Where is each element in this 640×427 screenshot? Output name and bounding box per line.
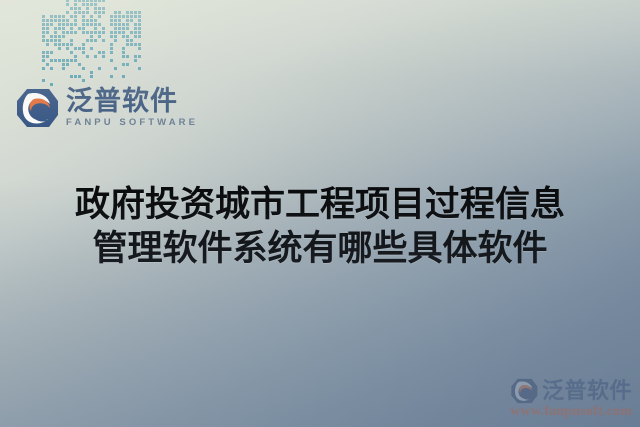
brand-wordmark: 泛普软件 FANPU SOFTWARE <box>66 88 198 128</box>
skyline-pixel <box>118 15 121 18</box>
skyline-pixel <box>130 31 133 34</box>
skyline-pixel <box>66 55 69 58</box>
skyline-pixel <box>42 27 45 30</box>
skyline-pixel <box>98 3 101 6</box>
skyline-pixel <box>54 63 57 66</box>
skyline-pixel <box>70 19 73 22</box>
skyline-pixel <box>126 59 129 62</box>
skyline-pixel <box>118 75 121 78</box>
skyline-pixel <box>134 75 137 78</box>
skyline-pixel <box>50 31 53 34</box>
skyline-pixel <box>122 23 125 26</box>
skyline-pixel <box>82 63 85 66</box>
skyline-pixel <box>122 79 125 82</box>
skyline-pixel <box>74 79 77 82</box>
skyline-pixel <box>110 39 113 42</box>
skyline-pixel <box>94 51 97 54</box>
skyline-pixel <box>130 67 133 70</box>
skyline-pixel <box>70 39 73 42</box>
skyline-pixel <box>78 43 81 46</box>
skyline-pixel <box>74 11 77 14</box>
skyline-pixel <box>86 39 89 42</box>
skyline-pixel <box>78 23 81 26</box>
skyline-pixel <box>94 19 97 22</box>
skyline-pixel <box>130 23 133 26</box>
skyline-pixel <box>46 27 49 30</box>
skyline-pixel <box>58 35 61 38</box>
skyline-pixel <box>94 15 97 18</box>
skyline-pixel <box>42 79 45 82</box>
skyline-pixel <box>74 63 77 66</box>
skyline-pixel <box>42 75 45 78</box>
skyline-pixel <box>134 59 137 62</box>
skyline-pixel <box>126 71 129 74</box>
skyline-pixel <box>110 63 113 66</box>
skyline-pixel <box>82 55 85 58</box>
skyline-pixel <box>50 63 53 66</box>
skyline-pixel <box>126 35 129 38</box>
skyline-pixel <box>66 75 69 78</box>
skyline-pixel <box>130 79 133 82</box>
skyline-pixel <box>122 71 125 74</box>
skyline-pixel <box>82 7 85 10</box>
skyline-pixel <box>90 15 93 18</box>
skyline-pixel <box>126 75 129 78</box>
skyline-pixel <box>86 19 89 22</box>
skyline-pixel <box>78 0 81 2</box>
skyline-pixel <box>94 79 97 82</box>
skyline-pixel <box>134 19 137 22</box>
skyline-pixel <box>118 39 121 42</box>
skyline-pixel <box>82 3 85 6</box>
skyline-pixel <box>62 19 65 22</box>
skyline-pixel <box>126 51 129 54</box>
skyline-pixel <box>94 75 97 78</box>
skyline-pixel <box>58 75 61 78</box>
skyline-right-building <box>110 11 141 86</box>
skyline-pixel <box>126 31 129 34</box>
skyline-pixel <box>50 15 53 18</box>
skyline-pixel <box>118 47 121 50</box>
skyline-pixel <box>58 31 61 34</box>
skyline-pixel <box>90 51 93 54</box>
skyline-pixel <box>54 19 57 22</box>
skyline-pixel <box>46 19 49 22</box>
skyline-pixel <box>78 51 81 54</box>
skyline-pixel <box>50 75 53 78</box>
skyline-pixel <box>134 47 137 50</box>
skyline-pixel <box>126 55 129 58</box>
skyline-pixel <box>98 35 101 38</box>
skyline-pixel <box>86 79 89 82</box>
skyline-pixel <box>102 47 105 50</box>
skyline-pixel <box>70 79 73 82</box>
skyline-pixel <box>70 55 73 58</box>
skyline-pixel <box>42 51 45 54</box>
skyline-pixel <box>130 27 133 30</box>
skyline-pixel <box>126 19 129 22</box>
skyline-pixel <box>62 27 65 30</box>
skyline-pixel <box>50 67 53 70</box>
skyline-pixel <box>98 59 101 62</box>
skyline-pixel <box>94 39 97 42</box>
skyline-pixel <box>50 19 53 22</box>
skyline-pixel <box>74 59 77 62</box>
skyline-pixel <box>110 31 113 34</box>
skyline-pixel <box>94 63 97 66</box>
skyline-pixel <box>46 71 49 74</box>
skyline-pixel <box>86 63 89 66</box>
skyline-pixel <box>94 71 97 74</box>
skyline-pixel <box>110 35 113 38</box>
skyline-pixel <box>42 35 45 38</box>
skyline-pixel <box>110 19 113 22</box>
skyline-pixel <box>62 51 65 54</box>
skyline-pixel <box>42 71 45 74</box>
skyline-pixel <box>50 39 53 42</box>
skyline-pixel <box>62 59 65 62</box>
skyline-pixel <box>86 27 89 30</box>
skyline-pixel <box>74 7 77 10</box>
skyline-pixel <box>70 15 73 18</box>
skyline-pixel <box>66 71 69 74</box>
skyline-pixel <box>94 7 97 10</box>
skyline-pixel <box>98 67 101 70</box>
skyline-pixel <box>62 55 65 58</box>
skyline-pixel <box>86 3 89 6</box>
skyline-left-building <box>42 15 65 86</box>
skyline-pixel <box>138 39 141 42</box>
skyline-pixel <box>70 67 73 70</box>
skyline-pixel <box>42 43 45 46</box>
skyline-pixel <box>58 71 61 74</box>
skyline-pixel <box>118 31 121 34</box>
skyline-pixel <box>54 35 57 38</box>
skyline-pixel <box>42 23 45 26</box>
skyline-pixel <box>102 23 105 26</box>
skyline-pixel <box>58 27 61 30</box>
skyline-pixel <box>102 3 105 6</box>
skyline-pixel <box>138 75 141 78</box>
skyline-pixel <box>50 43 53 46</box>
skyline-pixel <box>138 55 141 58</box>
skyline-pixel <box>102 0 105 2</box>
skyline-pixel <box>54 27 57 30</box>
skyline-pixel <box>74 71 77 74</box>
skyline-pixel <box>122 11 125 14</box>
skyline-pixel <box>90 23 93 26</box>
skyline-pixel <box>74 43 77 46</box>
skyline-pixel <box>86 47 89 50</box>
skyline-pixel <box>134 67 137 70</box>
skyline-pixel <box>114 51 117 54</box>
skyline-pixel <box>90 11 93 14</box>
skyline-pixel <box>114 47 117 50</box>
skyline-pixel <box>82 23 85 26</box>
skyline-pixel <box>62 31 65 34</box>
skyline-pixel <box>58 55 61 58</box>
skyline-pixel <box>66 3 69 6</box>
skyline-pixel <box>66 59 69 62</box>
skyline-pixel <box>110 15 113 18</box>
skyline-pixel <box>126 47 129 50</box>
skyline-pixel <box>122 75 125 78</box>
skyline-pixel <box>50 71 53 74</box>
skyline-pixel <box>114 31 117 34</box>
skyline-pixel <box>86 15 89 18</box>
skyline-pixel <box>94 59 97 62</box>
skyline-pixel <box>82 67 85 70</box>
skyline-pixel <box>90 59 93 62</box>
skyline-pixel <box>86 0 89 2</box>
skyline-pixel <box>138 51 141 54</box>
skyline-pixel <box>102 35 105 38</box>
skyline-pixel <box>114 27 117 30</box>
skyline-pixel <box>82 43 85 46</box>
skyline-pixel <box>74 35 77 38</box>
skyline-pixel <box>74 39 77 42</box>
skyline-pixel <box>138 79 141 82</box>
skyline-pixel <box>62 39 65 42</box>
skyline-pixel <box>94 43 97 46</box>
skyline-pixel <box>62 75 65 78</box>
skyline-pixel <box>90 43 93 46</box>
skyline-pixel <box>74 51 77 54</box>
skyline-pixel <box>66 47 69 50</box>
skyline-pixel <box>42 63 45 66</box>
skyline-pixel <box>118 55 121 58</box>
skyline-pixel <box>118 79 121 82</box>
skyline-pixel <box>94 47 97 50</box>
skyline-pixel <box>66 43 69 46</box>
skyline-pixel <box>98 75 101 78</box>
skyline-pixel <box>70 31 73 34</box>
skyline-pixel <box>118 63 121 66</box>
skyline-pixel <box>82 59 85 62</box>
skyline-pixel <box>122 19 125 22</box>
skyline-pixel <box>58 23 61 26</box>
skyline-pixel <box>50 83 53 86</box>
skyline-pixel <box>74 67 77 70</box>
skyline-pixel <box>42 31 45 34</box>
skyline-pixel <box>70 51 73 54</box>
skyline-pixel <box>46 79 49 82</box>
skyline-pixel <box>66 39 69 42</box>
skyline-pixel <box>118 19 121 22</box>
skyline-pixel <box>98 31 101 34</box>
skyline-pixel <box>90 0 93 2</box>
skyline-pixel <box>102 43 105 46</box>
skyline-pixel <box>98 55 101 58</box>
skyline-pixel <box>114 19 117 22</box>
skyline-pixel <box>138 43 141 46</box>
skyline-pixel <box>82 0 85 2</box>
skyline-pixel <box>114 23 117 26</box>
skyline-pixel <box>62 43 65 46</box>
fanpu-logo-icon-watermark <box>510 378 538 404</box>
skyline-pixel <box>90 55 93 58</box>
skyline-pixel <box>114 55 117 58</box>
skyline-pixel <box>98 39 101 42</box>
skyline-pixel <box>78 7 81 10</box>
skyline-pixel <box>114 59 117 62</box>
skyline-pixel <box>82 47 85 50</box>
skyline-pixel <box>62 23 65 26</box>
skyline-pixel <box>82 39 85 42</box>
skyline-pixel <box>70 43 73 46</box>
skyline-pixel <box>114 43 117 46</box>
skyline-pixel <box>46 39 49 42</box>
skyline-pixel <box>98 47 101 50</box>
skyline-pixel <box>50 47 53 50</box>
skyline-pixel <box>54 59 57 62</box>
skyline-pixel <box>82 79 85 82</box>
skyline-pixel <box>74 27 77 30</box>
skyline-pixel <box>98 11 101 14</box>
skyline-pixel <box>138 31 141 34</box>
skyline-pixel <box>122 51 125 54</box>
skyline-pixel <box>130 71 133 74</box>
skyline-pixel <box>102 55 105 58</box>
skyline-pixel <box>66 51 69 54</box>
skyline-pixel <box>54 51 57 54</box>
skyline-pixel <box>110 71 113 74</box>
skyline-pixel <box>90 47 93 50</box>
skyline-pixel <box>118 11 121 14</box>
skyline-pixel <box>86 55 89 58</box>
skyline-pixel <box>70 11 73 14</box>
skyline-pixel <box>138 71 141 74</box>
skyline-pixel <box>122 55 125 58</box>
skyline-pixel <box>94 23 97 26</box>
page-title: 政府投资城市工程项目过程信息 管理软件系统有哪些具体软件 <box>0 183 640 271</box>
skyline-pixel <box>126 43 129 46</box>
skyline-pixel <box>134 39 137 42</box>
skyline-pixel <box>78 27 81 30</box>
skyline-pixel <box>134 43 137 46</box>
skyline-pixel <box>42 67 45 70</box>
skyline-pixel <box>86 23 89 26</box>
skyline-pixel <box>74 19 77 22</box>
skyline-pixel <box>90 35 93 38</box>
skyline-pixel <box>114 35 117 38</box>
skyline-pixel <box>110 79 113 82</box>
skyline-pixel <box>78 15 81 18</box>
skyline-pixel <box>46 35 49 38</box>
skyline-pixel <box>82 31 85 34</box>
skyline-pixel <box>102 51 105 54</box>
skyline-pixel <box>58 79 61 82</box>
skyline-pixel <box>82 19 85 22</box>
skyline-pixel <box>126 23 129 26</box>
skyline-pixel <box>78 47 81 50</box>
skyline-pixel <box>42 39 45 42</box>
skyline-pixel <box>70 27 73 30</box>
skyline-pixel <box>58 51 61 54</box>
skyline-pixel <box>90 27 93 30</box>
skyline-pixel <box>110 11 113 14</box>
skyline-pixel <box>126 63 129 66</box>
skyline-pixel <box>130 75 133 78</box>
skyline-pixel <box>126 39 129 42</box>
skyline-pixel <box>110 51 113 54</box>
skyline-pixel <box>102 11 105 14</box>
page-title-line-1: 政府投资城市工程项目过程信息 <box>0 183 640 227</box>
skyline-pixel <box>78 55 81 58</box>
skyline-pixel <box>50 23 53 26</box>
skyline-pixel <box>70 75 73 78</box>
skyline-pixel <box>122 63 125 66</box>
skyline-center-building <box>66 0 105 86</box>
skyline-pixel <box>98 79 101 82</box>
skyline-pixel <box>46 75 49 78</box>
skyline-pixel <box>110 55 113 58</box>
skyline-pixel <box>86 31 89 34</box>
skyline-pixel <box>90 63 93 66</box>
skyline-pixel <box>102 75 105 78</box>
skyline-pixel <box>134 27 137 30</box>
skyline-pixel <box>78 39 81 42</box>
skyline-pixel <box>78 79 81 82</box>
skyline-pixel <box>50 59 53 62</box>
skyline-pixel <box>110 27 113 30</box>
skyline-pixel <box>74 55 77 58</box>
skyline-pixel <box>102 63 105 66</box>
skyline-pixel <box>138 27 141 30</box>
skyline-pixel <box>114 67 117 70</box>
skyline-pixel <box>54 75 57 78</box>
skyline-pixel <box>94 0 97 2</box>
skyline-pixel <box>126 67 129 70</box>
skyline-pixel <box>98 27 101 30</box>
skyline-pixel <box>66 35 69 38</box>
skyline-pixel <box>130 55 133 58</box>
skyline-pixel <box>122 39 125 42</box>
skyline-pixel <box>78 19 81 22</box>
skyline-pixel <box>114 15 117 18</box>
skyline-pixel <box>110 67 113 70</box>
watermark: 泛普软件 www.fanpusoft.com <box>510 378 632 419</box>
skyline-pixel <box>138 15 141 18</box>
skyline-pixel <box>46 83 49 86</box>
skyline-pixel <box>66 7 69 10</box>
skyline-pixel <box>70 63 73 66</box>
skyline-pixel <box>98 19 101 22</box>
skyline-pixel <box>58 19 61 22</box>
skyline-pixel <box>42 19 45 22</box>
skyline-pixel <box>114 63 117 66</box>
skyline-pixel <box>94 35 97 38</box>
skyline-pixel <box>102 79 105 82</box>
skyline-pixel <box>86 11 89 14</box>
skyline-pixel <box>102 19 105 22</box>
skyline-pixel <box>82 27 85 30</box>
skyline-pixel <box>74 47 77 50</box>
skyline-pixel <box>50 51 53 54</box>
skyline-pixel <box>102 59 105 62</box>
skyline-pixel <box>134 55 137 58</box>
skyline-pixel <box>62 79 65 82</box>
skyline-pixel <box>74 15 77 18</box>
skyline-pixel <box>50 35 53 38</box>
skyline-pixel <box>42 55 45 58</box>
skyline-pixel <box>102 39 105 42</box>
skyline-pixel <box>70 23 73 26</box>
skyline-pixel <box>130 59 133 62</box>
skyline-pixel <box>46 55 49 58</box>
skyline-pixel <box>118 67 121 70</box>
skyline-pixel <box>130 47 133 50</box>
